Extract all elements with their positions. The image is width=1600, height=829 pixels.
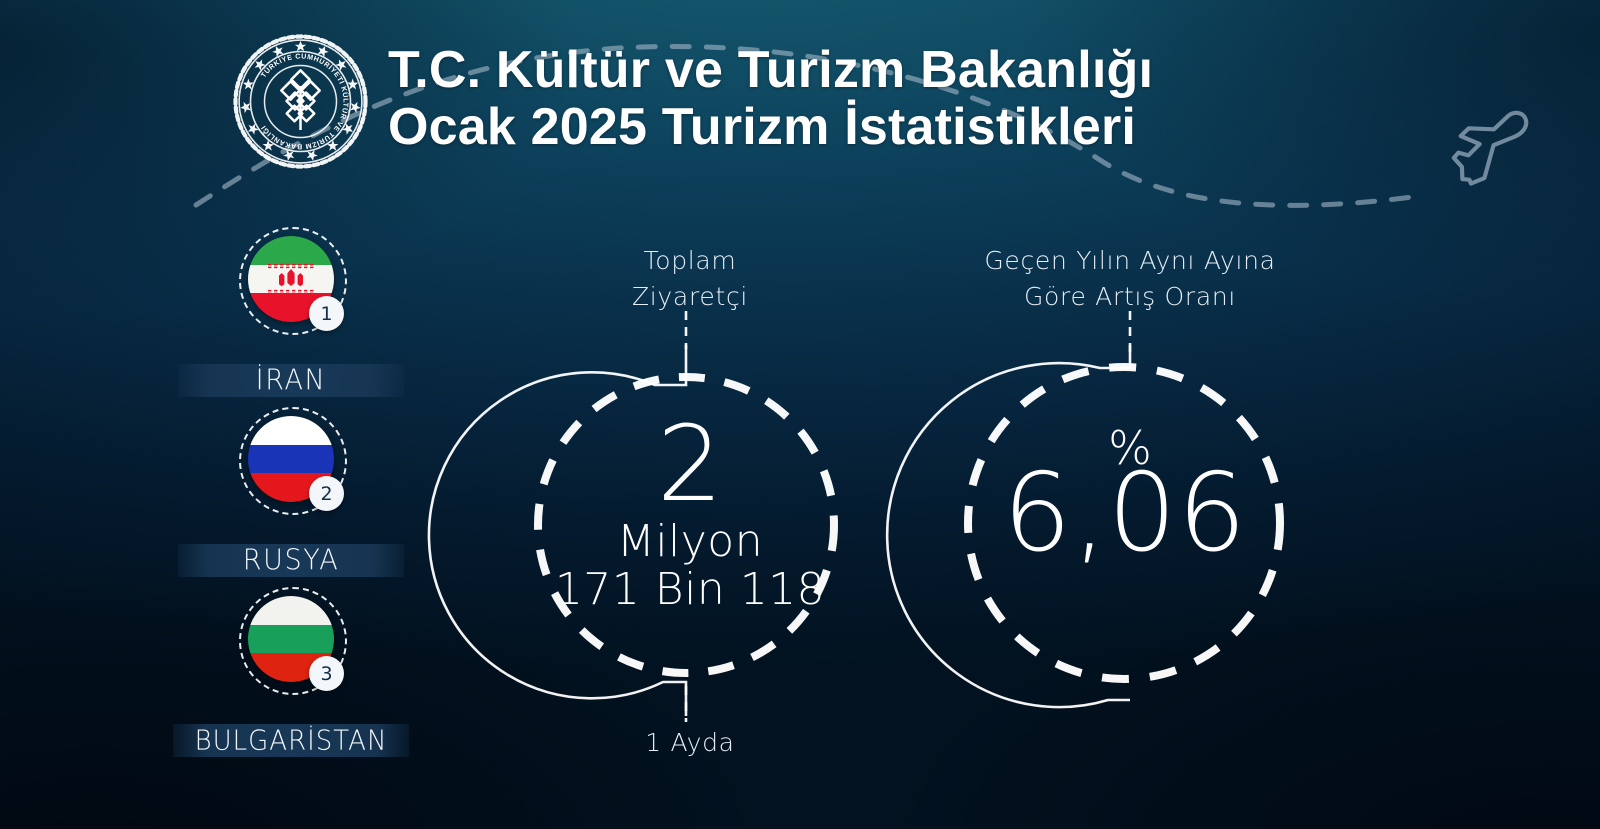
total-visitors-remainder: 171 Bin 118 xyxy=(540,566,840,614)
growth-rate-value: 6,06 xyxy=(955,460,1295,568)
rate-caption-line-2: Göre Artış Oranı xyxy=(930,279,1330,315)
total-visitors-millions: 2 xyxy=(590,412,790,516)
infographic-stage: TÜRKİYE CUMHURİYETİ KÜLTÜR VE TURİZM BAK… xyxy=(0,0,1600,829)
growth-rate-caption: Geçen Yılın Aynı Ayına Göre Artış Oranı xyxy=(930,243,1330,314)
total-visitors-period: 1 Ayda xyxy=(570,728,810,757)
total-caption-line-2: Ziyaretçi xyxy=(540,279,840,315)
stat-rings-layer xyxy=(0,0,1600,829)
total-caption-line-1: Toplam xyxy=(540,243,840,279)
rate-caption-line-1: Geçen Yılın Aynı Ayına xyxy=(930,243,1330,279)
total-visitors-unit: Milyon xyxy=(560,518,820,566)
total-visitors-caption: Toplam Ziyaretçi xyxy=(540,243,840,314)
